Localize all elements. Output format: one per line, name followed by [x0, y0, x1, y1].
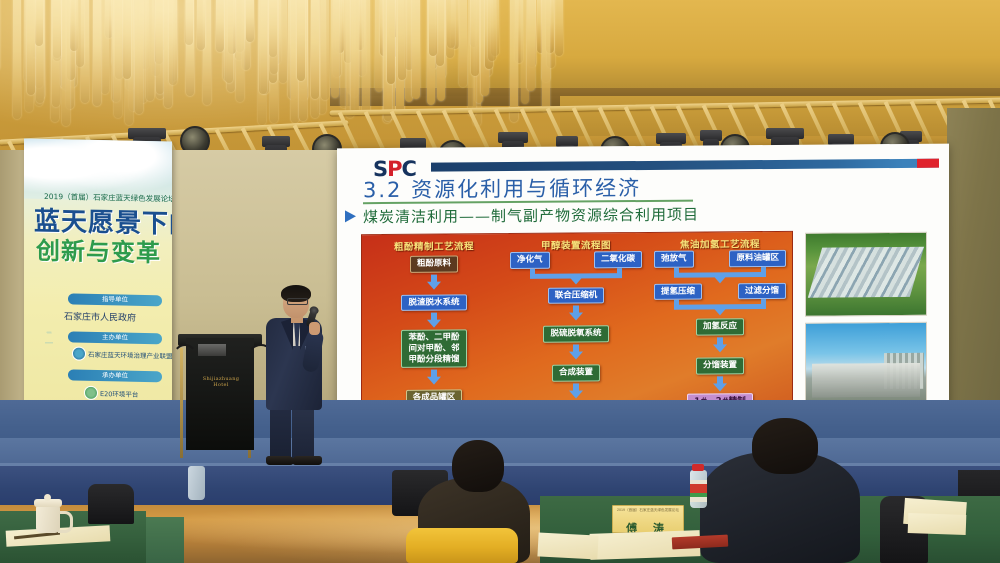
chandelier-bead [389, 0, 397, 38]
chandelier-bead [451, 0, 459, 49]
flow-node: 合成装置 [552, 364, 600, 381]
flow-arrow [713, 376, 727, 391]
speaker-shoe-right [292, 456, 322, 465]
audience-person-2-head [752, 418, 818, 474]
chandelier-bead [336, 0, 344, 53]
flow-node: 脱硫脱氧系统 [543, 326, 608, 343]
chandelier-bead [429, 0, 437, 56]
chandelier-bead [227, 0, 235, 92]
audience-table-left-side [146, 517, 184, 563]
chandelier-bead [398, 0, 406, 80]
chandelier-bead [297, 0, 305, 81]
chandelier-bead [488, 0, 496, 61]
chandelier-bead [60, 0, 68, 88]
chandelier-bead [333, 0, 341, 51]
podium-emblem: Shijiazhuang Hotel [200, 376, 242, 388]
flow-arrow [569, 306, 583, 321]
spherical-tanks-photo [805, 322, 927, 403]
banner-section-label-1: 主办单位 [68, 331, 162, 344]
chandelier-bead [299, 0, 307, 89]
chandelier-bead [375, 0, 383, 92]
chandelier-bead [340, 0, 348, 108]
flow-node: 净化气 [510, 252, 550, 269]
chandelier-bead [484, 0, 492, 40]
chandelier-bead [358, 0, 366, 76]
chandelier-bead [393, 0, 401, 57]
chandelier-bead [521, 0, 529, 104]
chandelier-bead [66, 0, 74, 109]
name-card: 2019（首届）石家庄蓝天绿色发展论坛 傅 涛 [612, 505, 684, 533]
chandelier-bead [268, 0, 276, 76]
chandelier-bead [69, 0, 77, 87]
chandelier-bead [447, 0, 455, 48]
chandelier-bead [321, 0, 329, 100]
flow-node: 加氢反应 [696, 318, 744, 335]
chandelier-bead [223, 0, 231, 81]
chandelier-bead [33, 0, 41, 58]
dark-bag-left [88, 484, 134, 524]
banner-org-0: 石家庄市人民政府 [64, 309, 136, 324]
chandelier-bead [468, 0, 476, 116]
flow-merge-arrow [650, 299, 790, 316]
chandelier-bead [123, 0, 131, 79]
flow-column-header: 粗酚精制工艺流程 [364, 238, 504, 253]
chandelier-bead [387, 0, 395, 93]
chandelier-bead [350, 0, 358, 112]
chandelier-bead [129, 0, 137, 111]
conference-photo-scene: 2019（首届）石家庄蓝天绿色发展论坛 蓝天愿景下的 创新与变革 指导单位 石家… [0, 0, 1000, 563]
speaker-hand [309, 322, 320, 335]
chandelier-bead [27, 0, 35, 95]
flow-arrow [427, 370, 441, 385]
flow-node: 过滤分馏 [738, 283, 786, 300]
chandelier-bead [115, 0, 123, 79]
flow-node: 提氢压缩 [654, 283, 702, 300]
chandelier-bead [299, 0, 307, 121]
flow-node: 粗酚原料 [410, 255, 458, 272]
chandelier-bead [259, 0, 267, 94]
flow-node: 二氧化碳 [594, 251, 642, 268]
chandelier-bead [225, 0, 233, 83]
chandelier-bead [429, 0, 437, 69]
chandelier-bead [216, 0, 224, 52]
chandelier-bead [481, 0, 489, 96]
water-bottle-2 [188, 466, 205, 500]
banner-section-label-2: 承办单位 [68, 369, 162, 382]
speaker-leg-right [292, 404, 314, 462]
chandelier-bead [36, 0, 44, 103]
chandelier-bead [141, 0, 149, 69]
chandelier-bead [13, 0, 21, 119]
chandelier-bead [311, 0, 319, 118]
chandelier-bead [62, 0, 70, 126]
chandelier-bead [53, 0, 61, 61]
chandelier-bead [119, 0, 127, 64]
mug-handle [58, 511, 73, 533]
chandelier-bead [347, 0, 355, 94]
chandelier-bead [446, 0, 454, 58]
chandelier-bead [438, 0, 446, 78]
chandelier-bead [246, 0, 254, 42]
banner-headline-2: 创新与变革 [36, 231, 161, 269]
chandelier-bead [163, 0, 171, 79]
chandelier-bead [528, 0, 536, 67]
flow-node-pair: 净化气二氧化碳 [506, 251, 646, 269]
plant-aerial-photo [805, 232, 927, 317]
chandelier-bead [235, 0, 243, 60]
chandelier-bead [346, 0, 354, 118]
refinery-stacks [884, 353, 924, 389]
chandelier-bead [405, 0, 413, 70]
chandelier-bead [76, 0, 84, 67]
banner-seal-icon [72, 346, 86, 360]
chandelier-bead [236, 0, 244, 102]
flow-column-header: 甲醇装置流程图 [506, 237, 646, 252]
chandelier-bead [470, 0, 478, 47]
chandelier-bead [24, 0, 32, 82]
chandelier-bead [35, 0, 43, 106]
chandelier-bead [436, 0, 444, 66]
flow-arrow [713, 337, 727, 352]
wall-column [0, 150, 26, 402]
chandelier-bead [53, 0, 61, 58]
speaker-shoe-left [266, 456, 294, 465]
mic-gooseneck-left [172, 344, 198, 374]
chandelier-bead [344, 0, 352, 63]
chandelier-bead [331, 0, 339, 98]
banner-section-label-0: 指导单位 [68, 293, 162, 306]
chandelier-bead [380, 0, 388, 56]
bullet-triangle-icon [345, 210, 356, 222]
chandelier-bead [491, 0, 499, 56]
chandelier-bead [135, 0, 143, 92]
banner-org-1: 石家庄蓝天环境治理产业联盟 [88, 349, 172, 361]
chandelier-bead [485, 0, 493, 69]
chandelier-bead [270, 0, 278, 74]
chandelier-bead [300, 0, 308, 100]
white-mug [36, 505, 60, 533]
chandelier-bead [112, 0, 120, 66]
flow-merge-arrow [506, 268, 646, 285]
chandelier-bead [555, 0, 563, 56]
event-banner: 2019（首届）石家庄蓝天绿色发展论坛 蓝天愿景下的 创新与变革 指导单位 石家… [24, 138, 172, 413]
banner-e20-icon [84, 386, 98, 400]
chandelier-bead [139, 0, 147, 103]
chandelier-bead [242, 0, 250, 70]
chandelier-bead [67, 0, 75, 80]
chandelier-bead [70, 0, 78, 51]
chandelier-bead [546, 0, 554, 53]
chandelier-bead [537, 0, 545, 53]
chandelier-bead [261, 0, 269, 94]
chandelier-bead [35, 0, 43, 46]
flow-merge-arrow [650, 266, 790, 283]
chandelier-bead [279, 0, 287, 83]
chandelier-bead [542, 0, 550, 112]
water-bottle-1-label [690, 480, 707, 502]
chandelier-bead [333, 0, 341, 77]
flow-column-0: 粗酚精制工艺流程粗酚原料脱渣脱水系统苯酚、二甲酚间对甲酚、邻甲酚分段精馏各成品罐… [364, 238, 504, 407]
chandelier-bead [471, 0, 479, 76]
flow-arrow [427, 313, 441, 328]
chandelier-bead [105, 0, 113, 38]
flow-node: 分馏装置 [696, 357, 744, 374]
chandelier-bead [412, 0, 420, 99]
flow-node: 脱渣脱水系统 [401, 294, 466, 311]
chandelier-bead [350, 0, 358, 97]
chandelier-bead [356, 0, 364, 50]
chandelier-bead [459, 0, 467, 87]
chandelier-bead [146, 0, 154, 101]
speaker-leg-left [270, 404, 291, 462]
flow-node: 苯酚、二甲酚间对甲酚、邻甲酚分段精馏 [401, 330, 466, 368]
chandelier-bead [169, 0, 177, 81]
chandelier-bead [186, 0, 194, 96]
speaker-glasses [287, 298, 308, 305]
chandelier-bead [135, 0, 143, 114]
chandelier-bead [542, 0, 550, 82]
chandelier-bead [387, 0, 395, 119]
flow-node: 联合压缩机 [548, 287, 605, 304]
chandelier-bead [155, 0, 163, 64]
chandelier-bead [351, 0, 359, 113]
chandelier-bead [318, 0, 326, 114]
chandelier-bead [384, 0, 392, 121]
chandelier-bead [405, 0, 413, 102]
podium-laptop [198, 344, 226, 356]
chandelier-bead [126, 0, 134, 90]
chandelier-bead [152, 0, 160, 76]
flow-arrow [569, 344, 583, 359]
chandelier-bead [35, 0, 43, 88]
chandelier-bead [185, 0, 193, 45]
chandelier-bead [101, 0, 109, 94]
chandelier-bead [527, 0, 535, 91]
flow-node-pair: 弛放气原料油罐区 [650, 250, 790, 268]
chandelier-bead [362, 0, 370, 114]
chandelier-bead [288, 0, 296, 99]
flow-node: 原料油罐区 [729, 250, 786, 267]
chandelier-bead [269, 0, 277, 83]
chandelier-bead [156, 0, 164, 99]
right-wall-panel [947, 108, 1000, 438]
chandelier-bead [547, 0, 555, 68]
mug-knob [44, 494, 51, 501]
chandelier-bead [427, 0, 435, 105]
flow-arrow [427, 274, 441, 289]
chandelier-bead [396, 0, 404, 69]
slide-header-bar [431, 159, 939, 172]
chandelier-bead [437, 0, 445, 101]
paper-sheet-right-2 [537, 532, 598, 559]
chandelier-bead [515, 0, 523, 63]
flow-node: 弛放气 [654, 251, 694, 268]
paper-stack-far-right-2 [908, 513, 967, 535]
chandelier-bead [51, 0, 59, 122]
chandelier-bead [169, 0, 177, 85]
banner-org-2: E20环境平台 [100, 388, 138, 399]
slide-subtitle: 煤炭清洁利用——制气副产物资源综合利用项目 [363, 204, 699, 228]
chandelier-bead [475, 0, 483, 103]
chandelier-bead [270, 0, 278, 123]
chandelier-bead [258, 0, 266, 125]
chandelier-bead [387, 0, 395, 84]
chandelier-bead [112, 0, 120, 102]
chandelier-bead [114, 0, 122, 118]
chandelier-bead [228, 0, 236, 54]
chandelier-bead [311, 0, 319, 99]
chandelier-bead [25, 0, 33, 112]
chandelier-bead [166, 0, 174, 84]
chandelier-bead [291, 0, 299, 123]
chandelier-bead [93, 0, 101, 106]
name-card-subtitle: 2019（首届）石家庄蓝天绿色发展论坛 [613, 508, 683, 513]
water-bottle-1-cap [692, 464, 704, 471]
flow-column-header: 焦油加氢工艺流程 [650, 236, 790, 251]
chandelier-bead [52, 0, 60, 107]
chandelier-bead [116, 0, 124, 54]
chandelier-bead [62, 0, 70, 90]
chandelier-bead [158, 0, 166, 50]
chandelier-bead [236, 0, 244, 52]
audience-chair-1 [406, 528, 518, 563]
chandelier-bead [273, 0, 281, 64]
flow-arrow [569, 383, 583, 398]
chandelier-bead [484, 0, 492, 76]
chandelier-bead [164, 0, 172, 108]
chandelier-bead [81, 0, 89, 103]
process-flow-diagram: 粗酚精制工艺流程粗酚原料脱渣脱水系统苯酚、二甲酚间对甲酚、邻甲酚分段精馏各成品罐… [361, 231, 793, 414]
banner-tower-graphic [32, 323, 66, 410]
chandelier-bead [197, 0, 205, 50]
chandelier-bead [125, 0, 133, 125]
chandelier-bead [396, 0, 404, 114]
chandelier-bead [203, 0, 211, 105]
chandelier-bead [269, 0, 277, 57]
flow-node-pair: 提氢压缩过滤分馏 [650, 282, 790, 300]
audience-person-1-head [452, 440, 504, 492]
chandelier-bead [31, 0, 39, 57]
chandelier-bead [544, 0, 552, 48]
chandelier-bead [156, 0, 164, 94]
chandelier-bead [37, 0, 45, 99]
